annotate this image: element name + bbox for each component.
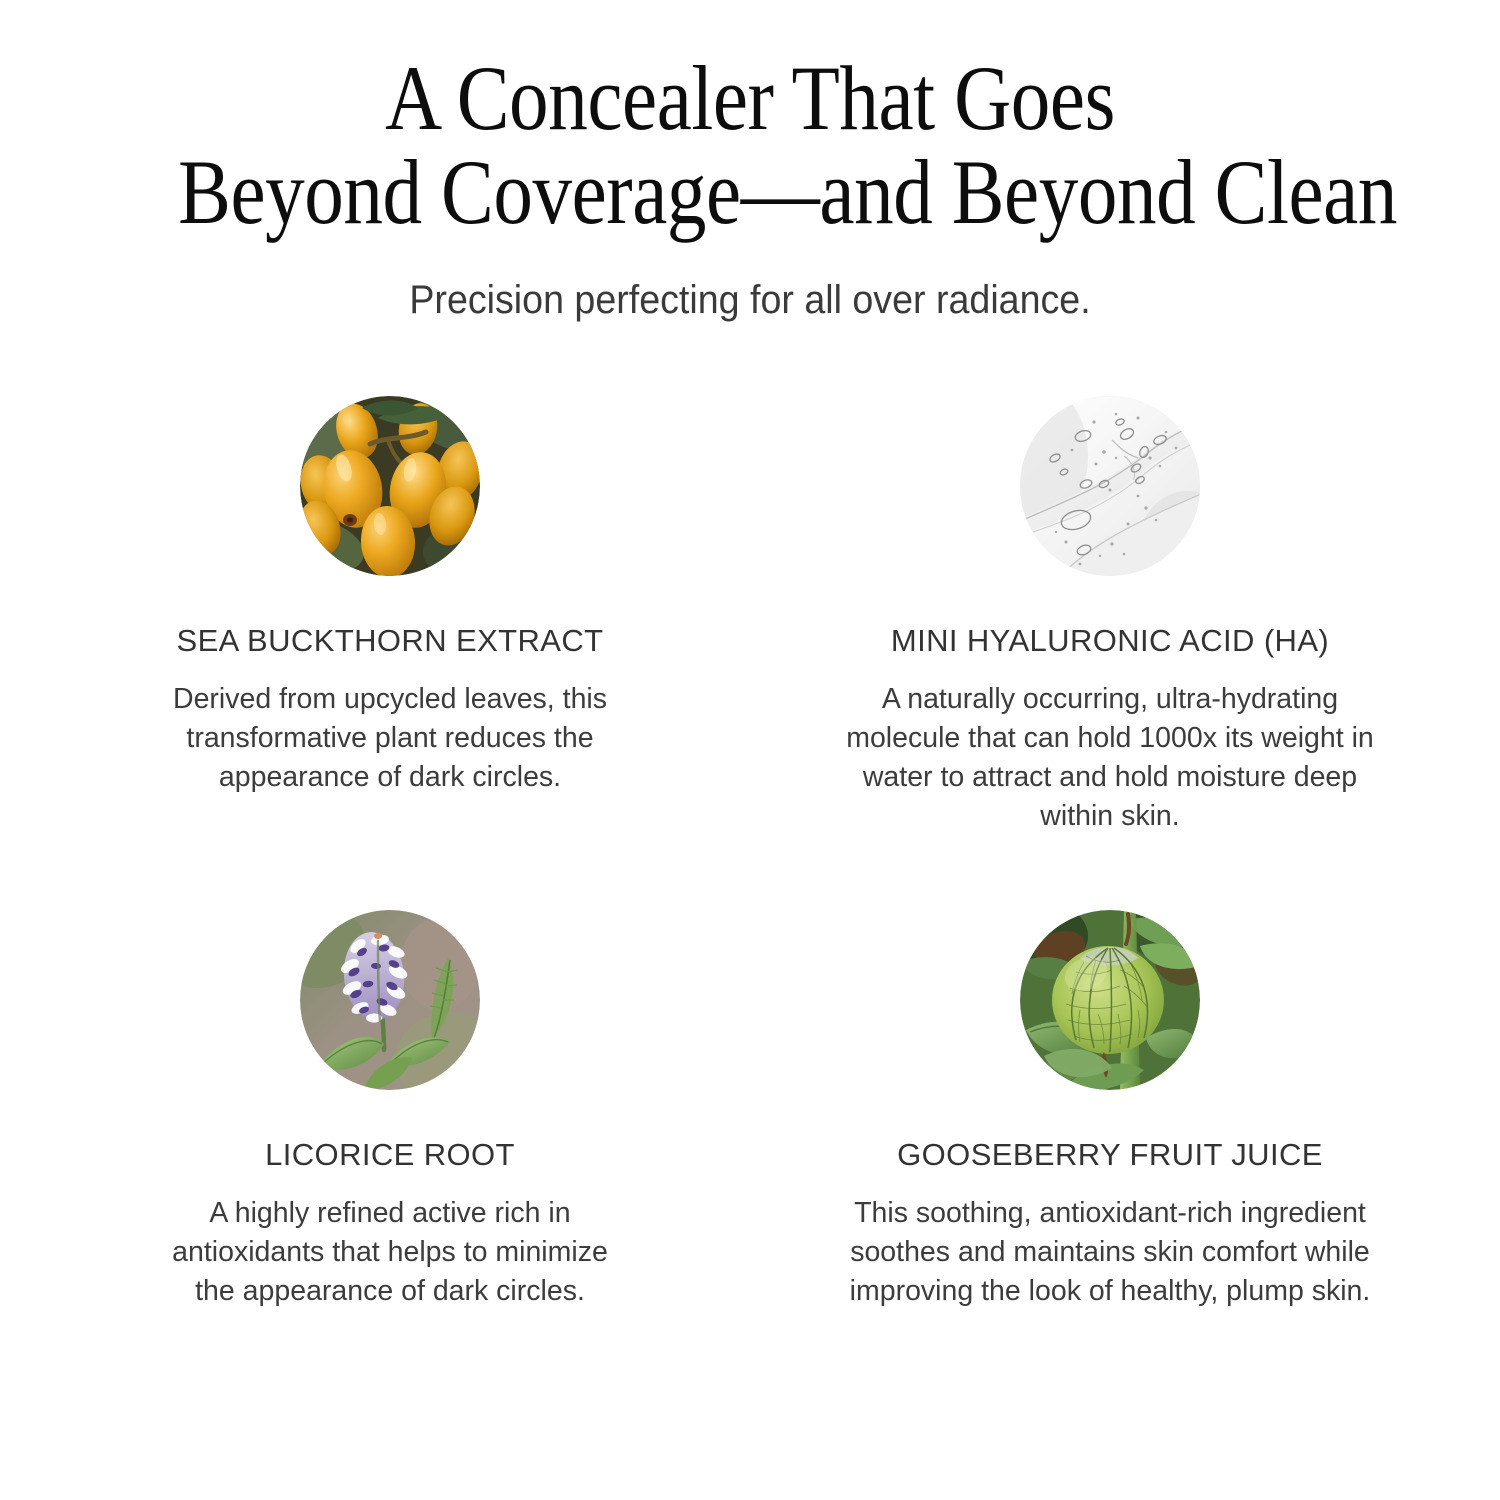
- page-title: A Concealer That Goes Beyond Coverage—an…: [178, 52, 1322, 240]
- ingredient-description: A naturally occurring, ultra-hydrating m…: [845, 680, 1375, 836]
- page-subtitle: Precision perfecting for all over radian…: [45, 276, 1455, 324]
- ingredient-title: GOOSEBERRY FRUIT JUICE: [897, 1138, 1323, 1172]
- ingredient-title: SEA BUCKTHORN EXTRACT: [177, 624, 604, 658]
- ingredient-description: This soothing, antioxidant-rich ingredie…: [845, 1194, 1375, 1311]
- ingredient-description: A highly refined active rich in antioxid…: [150, 1194, 630, 1311]
- sea-buckthorn-berries-photo: [300, 396, 480, 576]
- ingredient-title: LICORICE ROOT: [265, 1138, 515, 1172]
- ingredient-card-gooseberry: GOOSEBERRY FRUIT JUICE This soothing, an…: [750, 910, 1470, 1311]
- gooseberry-fruit-husk-photo: [1020, 910, 1200, 1090]
- ingredient-card-hyaluronic-acid: MINI HYALURONIC ACID (HA) A naturally oc…: [750, 396, 1470, 836]
- ingredient-grid: SEA BUCKTHORN EXTRACT Derived from upcyc…: [30, 324, 1470, 1311]
- hyaluronic-acid-gel-texture-photo: [1020, 396, 1200, 576]
- ingredient-card-sea-buckthorn: SEA BUCKTHORN EXTRACT Derived from upcyc…: [30, 396, 750, 836]
- page-header: A Concealer That Goes Beyond Coverage—an…: [0, 0, 1500, 324]
- ingredient-benefits-page: A Concealer That Goes Beyond Coverage—an…: [0, 0, 1500, 1500]
- headline-line-1: A Concealer That Goes: [178, 52, 1322, 146]
- licorice-root-flower-photo: [300, 910, 480, 1090]
- ingredient-card-licorice-root: LICORICE ROOT A highly refined active ri…: [30, 910, 750, 1311]
- ingredient-description: Derived from upcycled leaves, this trans…: [150, 680, 630, 797]
- ingredient-title: MINI HYALURONIC ACID (HA): [891, 624, 1329, 658]
- headline-line-2: Beyond Coverage—and Beyond Clean: [178, 146, 1322, 240]
